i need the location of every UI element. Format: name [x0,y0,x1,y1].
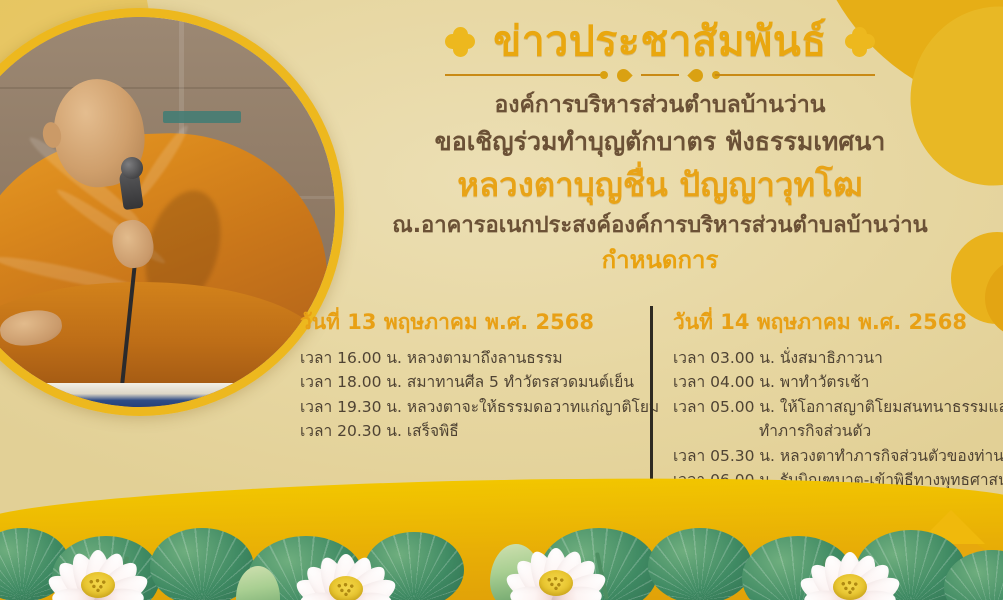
divider-bar-middle [641,74,679,76]
divider-dot-left [600,71,608,79]
divider-leaf-right [687,66,705,84]
announcement-poster: ข่าวประชาสัมพันธ์ องค์การบริหารส่วนตำบลบ… [0,0,1003,600]
venue-line: ณ.อาคารอเนกประสงค์องค์การบริหารส่วนตำบลบ… [330,209,990,242]
agenda-label: กำหนดการ [330,242,990,278]
schedule-item-text: เวลา 18.00 น. สมาทานศีล 5 ทำวัตรสวดมนต์เ… [300,373,634,391]
schedule-day2-heading: วันที่ 14 พฤษภาคม พ.ศ. 2568 [673,306,990,339]
ornamental-divider-icon [445,68,875,82]
clover-ornament-left-icon [445,27,475,57]
schedule-item: เวลา 19.30 น. หลวงตาจะให้ธรรมดอวาทแก่ญาต… [300,395,632,419]
lotus-flower-icon [286,522,406,600]
schedule-item-text: เวลา 05.30 น. หลวงตาทำภารกิจส่วนตัวของท่… [673,447,1003,465]
monk-name: หลวงตาบุญชื่น ปัญญาวุทโฒ [330,161,990,209]
title-row: ข่าวประชาสัมพันธ์ [330,18,990,65]
page-title: ข่าวประชาสัมพันธ์ [493,18,827,65]
schedule-item: เวลา 03.00 น. นั่งสมาธิภาวนา [673,346,990,370]
lotus-flower-icon [790,520,910,600]
schedule-item-text: เวลา 03.00 น. นั่งสมาธิภาวนา [673,349,883,367]
monk-photo-frame [0,8,344,416]
invitation-line: ขอเชิญร่วมทำบุญตักบาตร ฟังธรรมเทศนา [330,123,990,161]
schedule-item-text: เวลา 16.00 น. หลวงตามาถึงลานธรรม [300,349,563,367]
schedule-item: เวลา 16.00 น. หลวงตามาถึงลานธรรม [300,346,632,370]
schedule-item-text: เวลา 05.00 น. ให้โอกาสญาติโยมสนทนาธรรมแล… [673,398,1003,416]
schedule-item: เวลา 04.00 น. พาทำวัตรเช้า [673,370,990,394]
schedule-day1-heading: วันที่ 13 พฤษภาคม พ.ศ. 2568 [300,306,632,339]
schedule-item-text: เวลา 20.30 น. เสร็จพิธี [300,422,459,440]
schedule-item: เวลา 05.00 น. ให้โอกาสญาติโยมสนทนาธรรมแล… [673,395,990,444]
schedule-item-continuation: ทำภารกิจส่วนตัว [673,419,990,443]
photo-teal-accent [163,111,241,123]
schedule-item: เวลา 20.30 น. เสร็จพิธี [300,419,632,443]
monk-portrait-photo [0,17,335,407]
divider-bar-right [715,74,875,76]
photo-floor-mat [0,383,335,407]
poster-header: ข่าวประชาสัมพันธ์ องค์การบริหารส่วนตำบลบ… [330,18,990,278]
schedule-item: เวลา 18.00 น. สมาทานศีล 5 ทำวัตรสวดมนต์เ… [300,370,632,394]
divider-leaf-left [614,66,632,84]
lotus-leaf-icon [648,528,752,600]
schedule-item-text: เวลา 19.30 น. หลวงตาจะให้ธรรมดอวาทแก่ญาต… [300,398,659,416]
clover-ornament-right-icon [845,27,875,57]
divider-bar-left [445,74,605,76]
lotus-flower-icon [496,516,616,600]
lotus-flower-icon [38,518,158,600]
schedule-item: เวลา 05.30 น. หลวงตาทำภารกิจส่วนตัวของท่… [673,444,990,468]
schedule-item-text: เวลา 04.00 น. พาทำวัตรเช้า [673,373,869,391]
organization-name: องค์การบริหารส่วนตำบลบ้านว่าน [330,88,990,123]
photo-wall-line-upper [0,87,335,89]
